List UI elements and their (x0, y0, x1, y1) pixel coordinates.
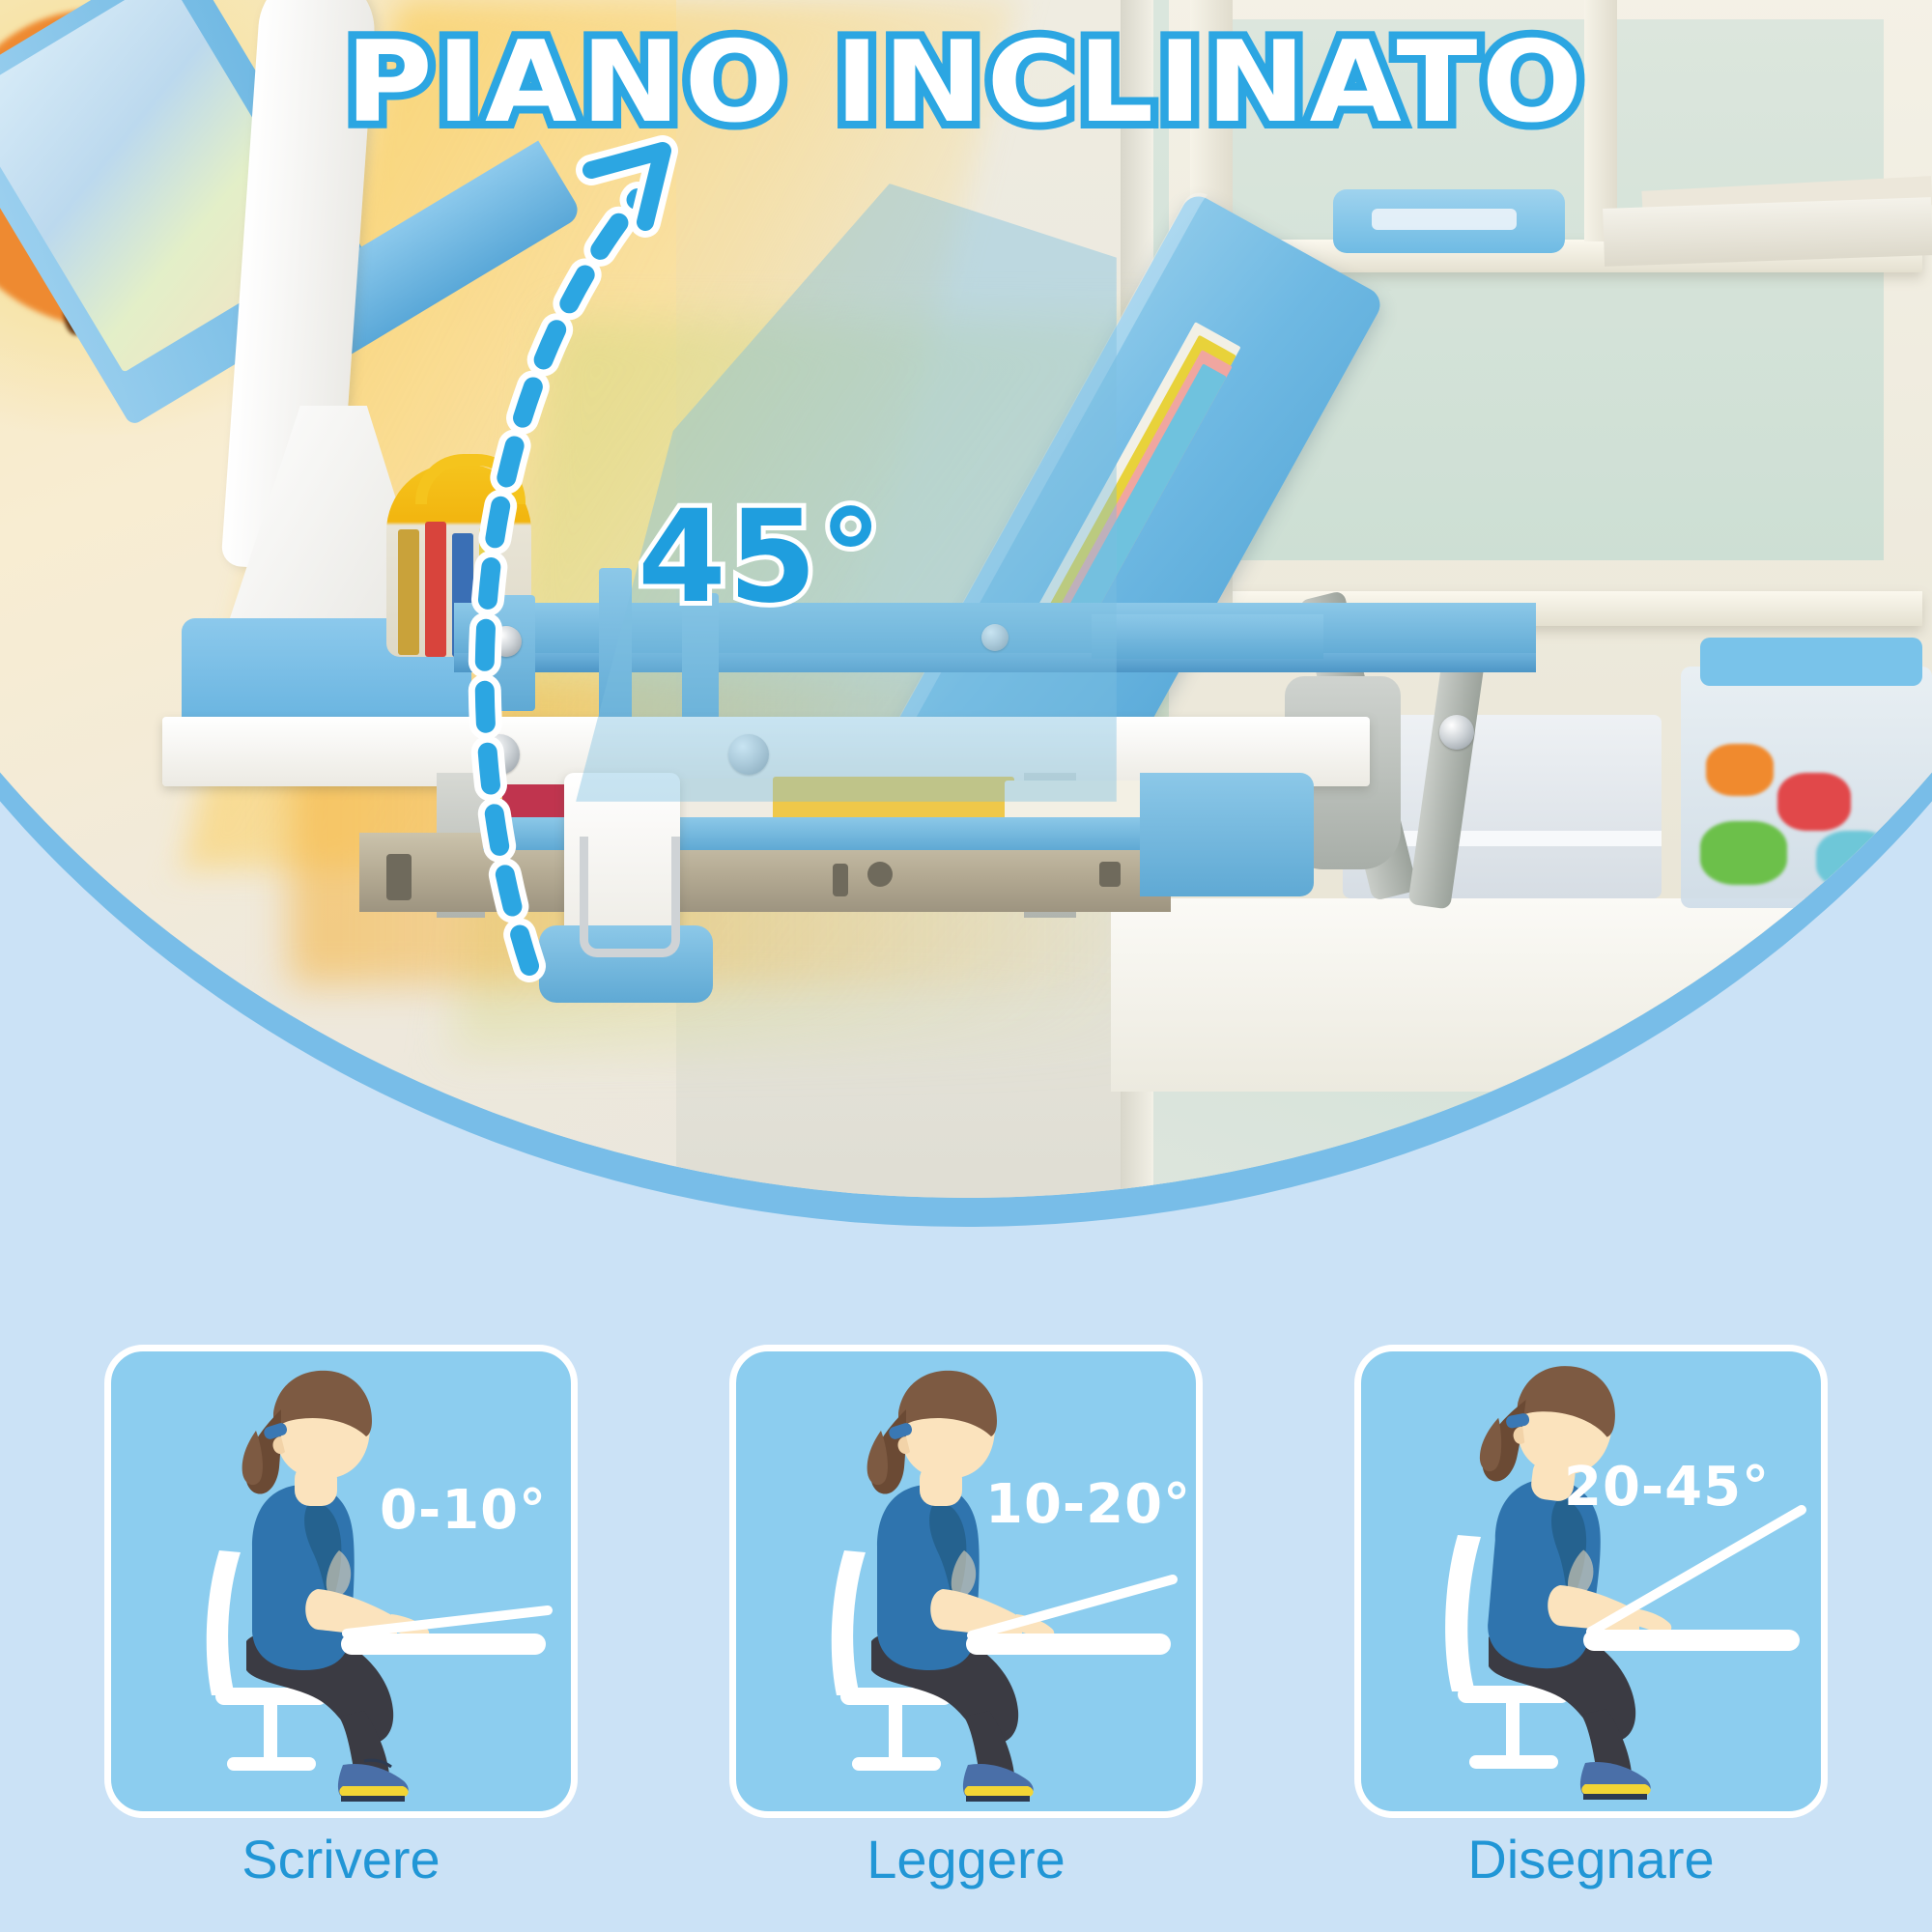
angle-label-2: 10-20° (985, 1473, 1191, 1536)
chair-back (1445, 1535, 1481, 1691)
shoe-icon (963, 1764, 1034, 1802)
product-photo (0, 0, 1932, 1198)
bag-hook-icon (580, 837, 680, 957)
chair-base (227, 1757, 316, 1771)
toy-piece (1706, 744, 1774, 796)
figure-illustration-reading (736, 1351, 1196, 1811)
chair-post (889, 1699, 902, 1763)
chair-back (832, 1550, 866, 1695)
chair-post (1506, 1697, 1520, 1761)
frame-bolt (491, 626, 522, 657)
rail-slot (1099, 862, 1121, 887)
frame-bolt (479, 734, 520, 775)
pen (398, 529, 419, 655)
paper-stack (1603, 197, 1932, 267)
chair-base (1469, 1755, 1558, 1769)
card-leggere[interactable]: 10-20° (729, 1345, 1203, 1818)
caption-disegnare: Disegnare (1354, 1828, 1828, 1890)
chair-base (852, 1757, 941, 1771)
desk-bar (966, 1634, 1171, 1655)
toy-piece (1700, 821, 1787, 885)
figure-illustration-drawing (1361, 1351, 1821, 1811)
photo-ellipse-clip (0, 0, 1932, 1198)
card-disegnare[interactable]: 20-45° (1354, 1345, 1828, 1818)
clear-bin-lid (1700, 638, 1922, 686)
pen (425, 522, 446, 657)
product-photo-panel: 45° (0, 0, 1932, 1275)
angle-label-1: 0-10° (380, 1479, 547, 1542)
angle-label-3: 20-45° (1564, 1456, 1770, 1519)
tilt-line (1591, 1510, 1802, 1632)
desk-bar (341, 1634, 546, 1655)
caption-scrivere: Scrivere (104, 1828, 578, 1890)
toy-piece (1777, 773, 1851, 831)
tilt-line (972, 1579, 1173, 1635)
drawer-front (1140, 773, 1314, 896)
caption-leggere: Leggere (729, 1828, 1203, 1890)
chair-post (264, 1699, 277, 1763)
posture-cards: 0-10° (0, 1345, 1932, 1932)
rail-slot (833, 864, 848, 896)
angle-45-label: 45° (638, 483, 885, 632)
chair-back (207, 1550, 241, 1695)
hinge-bolt (1439, 715, 1474, 750)
shoe-icon (338, 1760, 409, 1802)
card-scrivere[interactable]: 0-10° (104, 1345, 578, 1818)
figure-illustration-writing (111, 1351, 571, 1811)
page-title: PIANO INCLINATO (0, 27, 1932, 139)
shoe-icon (1580, 1762, 1651, 1800)
rail-slot (386, 854, 412, 900)
rail-slot (867, 862, 893, 887)
toy-piece (1816, 831, 1893, 889)
desk-surface (1111, 898, 1932, 1092)
infographic-root: 45° PIANO INCLINATO (0, 0, 1932, 1932)
frame-bar-blue (1092, 614, 1323, 659)
desk-bar (1583, 1630, 1800, 1651)
